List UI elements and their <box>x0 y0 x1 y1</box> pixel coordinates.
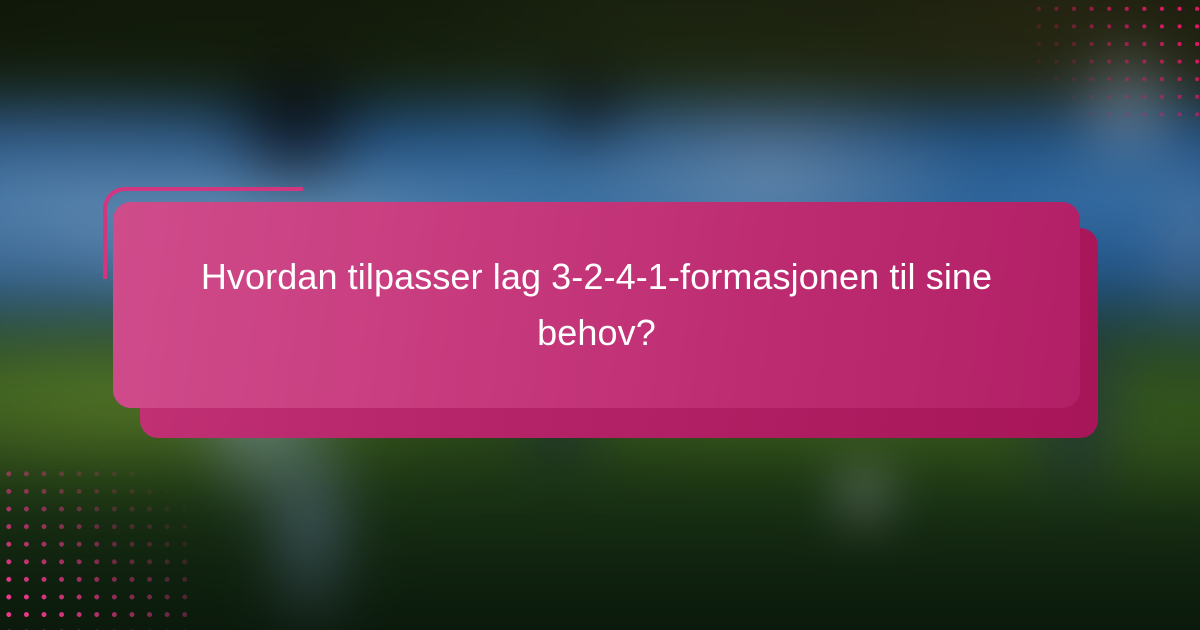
quote-card-stack: Hvordan tilpasser lag 3-2-4-1-formasjone… <box>0 0 1200 630</box>
card-headline: Hvordan tilpasser lag 3-2-4-1-formasjone… <box>197 249 997 361</box>
quote-card: Hvordan tilpasser lag 3-2-4-1-formasjone… <box>113 202 1080 408</box>
share-card-canvas: Hvordan tilpasser lag 3-2-4-1-formasjone… <box>0 0 1200 630</box>
